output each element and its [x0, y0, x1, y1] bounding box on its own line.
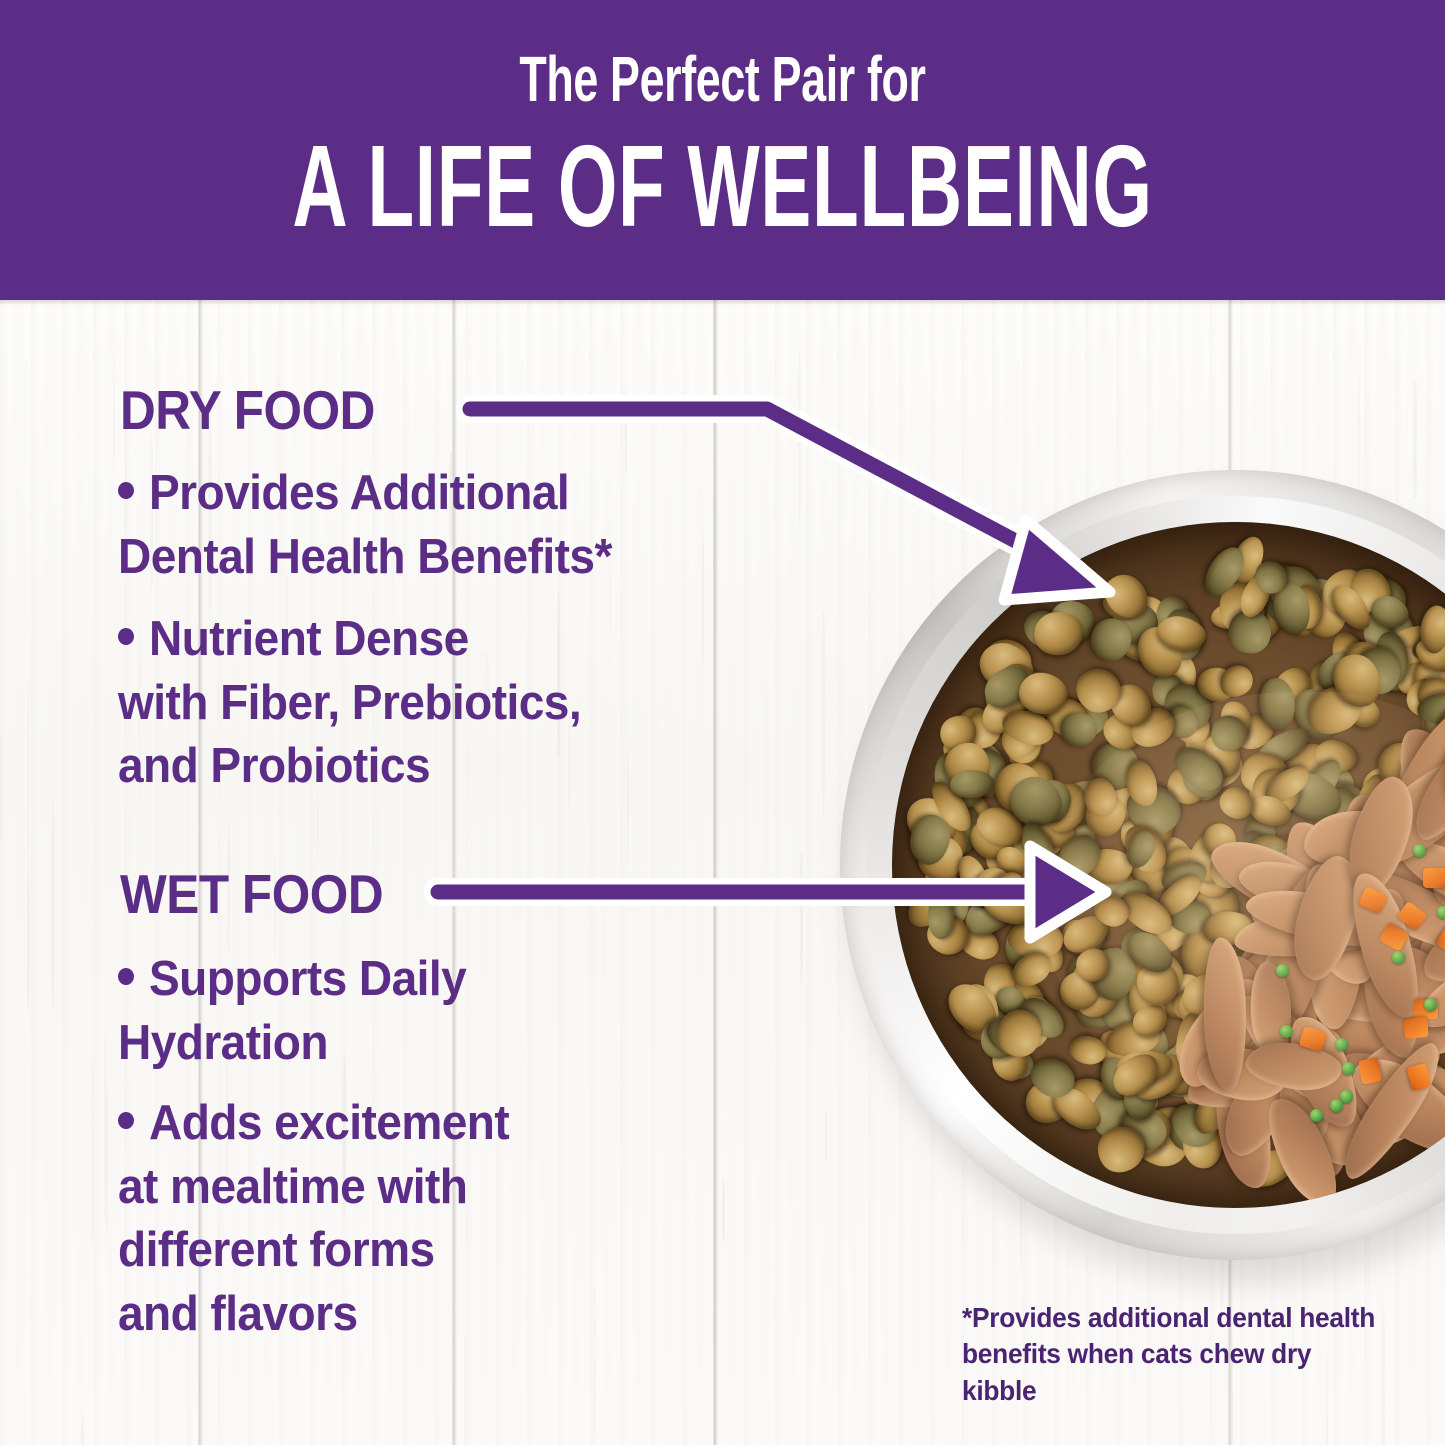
- wood-grain-streak: [533, 418, 535, 449]
- wood-grain-streak: [464, 1337, 466, 1445]
- bullet-dot-icon: [118, 1112, 134, 1129]
- wood-grain-streak: [800, 850, 803, 984]
- wood-grain-streak: [1220, 1211, 1223, 1311]
- wet-food-bullet-1-line-1: Supports Daily: [149, 952, 466, 1006]
- wood-grain-streak: [91, 1062, 93, 1243]
- wood-grain-streak: [28, 683, 30, 877]
- wet-food-bullet-2-line-1: Adds excitement: [149, 1096, 509, 1150]
- wood-grain-streak: [1382, 1307, 1385, 1445]
- wood-grain-streak: [1024, 1105, 1026, 1214]
- wood-grain-streak: [1397, 1034, 1399, 1132]
- bullet-dot-icon: [118, 482, 134, 499]
- footnote-line-2: benefits when cats chew dry kibble: [962, 1338, 1311, 1405]
- wood-grain-streak: [1297, 745, 1299, 868]
- wet-food-heading: WET FOOD: [120, 862, 383, 926]
- wood-grain-streak: [1128, 958, 1131, 1102]
- dry-food-bullet-2: Nutrient Dense with Fiber, Prebiotics, a…: [118, 608, 757, 799]
- wood-grain-streak: [822, 611, 824, 815]
- wood-grain-streak: [1369, 1121, 1371, 1294]
- header-subtitle: The Perfect Pair for: [217, 42, 1229, 116]
- dry-food-bullet-2-line-1: Nutrient Dense: [149, 612, 469, 666]
- wood-grain-streak: [1282, 552, 1285, 730]
- wet-food-bullet-2-line-4: and flavors: [118, 1287, 358, 1341]
- dry-food-bullet-2-line-2: with Fiber, Prebiotics,: [118, 676, 581, 730]
- bullet-dot-icon: [118, 968, 134, 985]
- wet-food-bullet-1-line-2: Hydration: [118, 1016, 328, 1070]
- wood-grain-streak: [1045, 1085, 1047, 1173]
- wood-grain-streak: [81, 1414, 84, 1445]
- wood-grain-streak: [967, 786, 969, 960]
- wood-grain-streak: [1110, 837, 1112, 1006]
- wood-grain-streak: [1020, 1164, 1022, 1271]
- wood-grain-streak: [825, 1108, 827, 1162]
- dry-food-bullet-2-line-3: and Probiotics: [118, 739, 430, 793]
- dry-food-bullet-1-line-2: Dental Health Benefits*: [118, 530, 612, 584]
- wet-food-bullet-1: Supports Daily Hydration: [118, 948, 757, 1075]
- header-title: A LIFE OF WELLBEING: [246, 128, 1200, 244]
- wood-grain-streak: [106, 1084, 108, 1238]
- wood-grain-streak: [1358, 370, 1360, 501]
- wood-grain-streak: [29, 1435, 31, 1445]
- wood-grain-streak: [0, 736, 1, 841]
- wood-grain-streak: [52, 801, 54, 1011]
- wet-food-bullet-2-line-3: different forms: [118, 1223, 435, 1277]
- wood-grain-streak: [104, 1034, 106, 1223]
- footnote-line-1: *Provides additional dental health: [962, 1302, 1375, 1333]
- promo-infographic: The Perfect Pair for A LIFE OF WELLBEING…: [0, 0, 1445, 1445]
- dry-food-bullet-1: Provides Additional Dental Health Benefi…: [118, 462, 757, 589]
- header-banner: The Perfect Pair for A LIFE OF WELLBEING: [0, 0, 1445, 300]
- wood-grain-streak: [1268, 788, 1271, 997]
- footnote: *Provides additional dental health benef…: [962, 1300, 1376, 1409]
- wood-grain-streak: [27, 871, 30, 1009]
- dry-food-bullet-1-line-1: Provides Additional: [149, 466, 569, 520]
- wood-grain-streak: [1274, 1139, 1275, 1269]
- wood-grain-streak: [1144, 636, 1146, 714]
- wood-grain-streak: [1273, 943, 1275, 1027]
- wood-grain-streak: [1123, 818, 1126, 990]
- wet-food-bullet-2: Adds excitement at mealtime with differe…: [118, 1092, 757, 1347]
- wet-food-bullet-2-line-2: at mealtime with: [118, 1160, 467, 1214]
- wood-grain-streak: [113, 358, 115, 467]
- wood-grain-streak: [766, 682, 767, 875]
- wood-grain-streak: [1413, 382, 1416, 498]
- wood-grain-streak: [798, 351, 801, 526]
- wood-grain-streak: [1261, 702, 1264, 887]
- dry-food-heading: DRY FOOD: [120, 378, 375, 442]
- wood-grain-streak: [1353, 1161, 1354, 1211]
- header-dropshadow: [0, 300, 1445, 305]
- wood-grain-streak: [1061, 935, 1062, 980]
- bullet-dot-icon: [118, 628, 134, 645]
